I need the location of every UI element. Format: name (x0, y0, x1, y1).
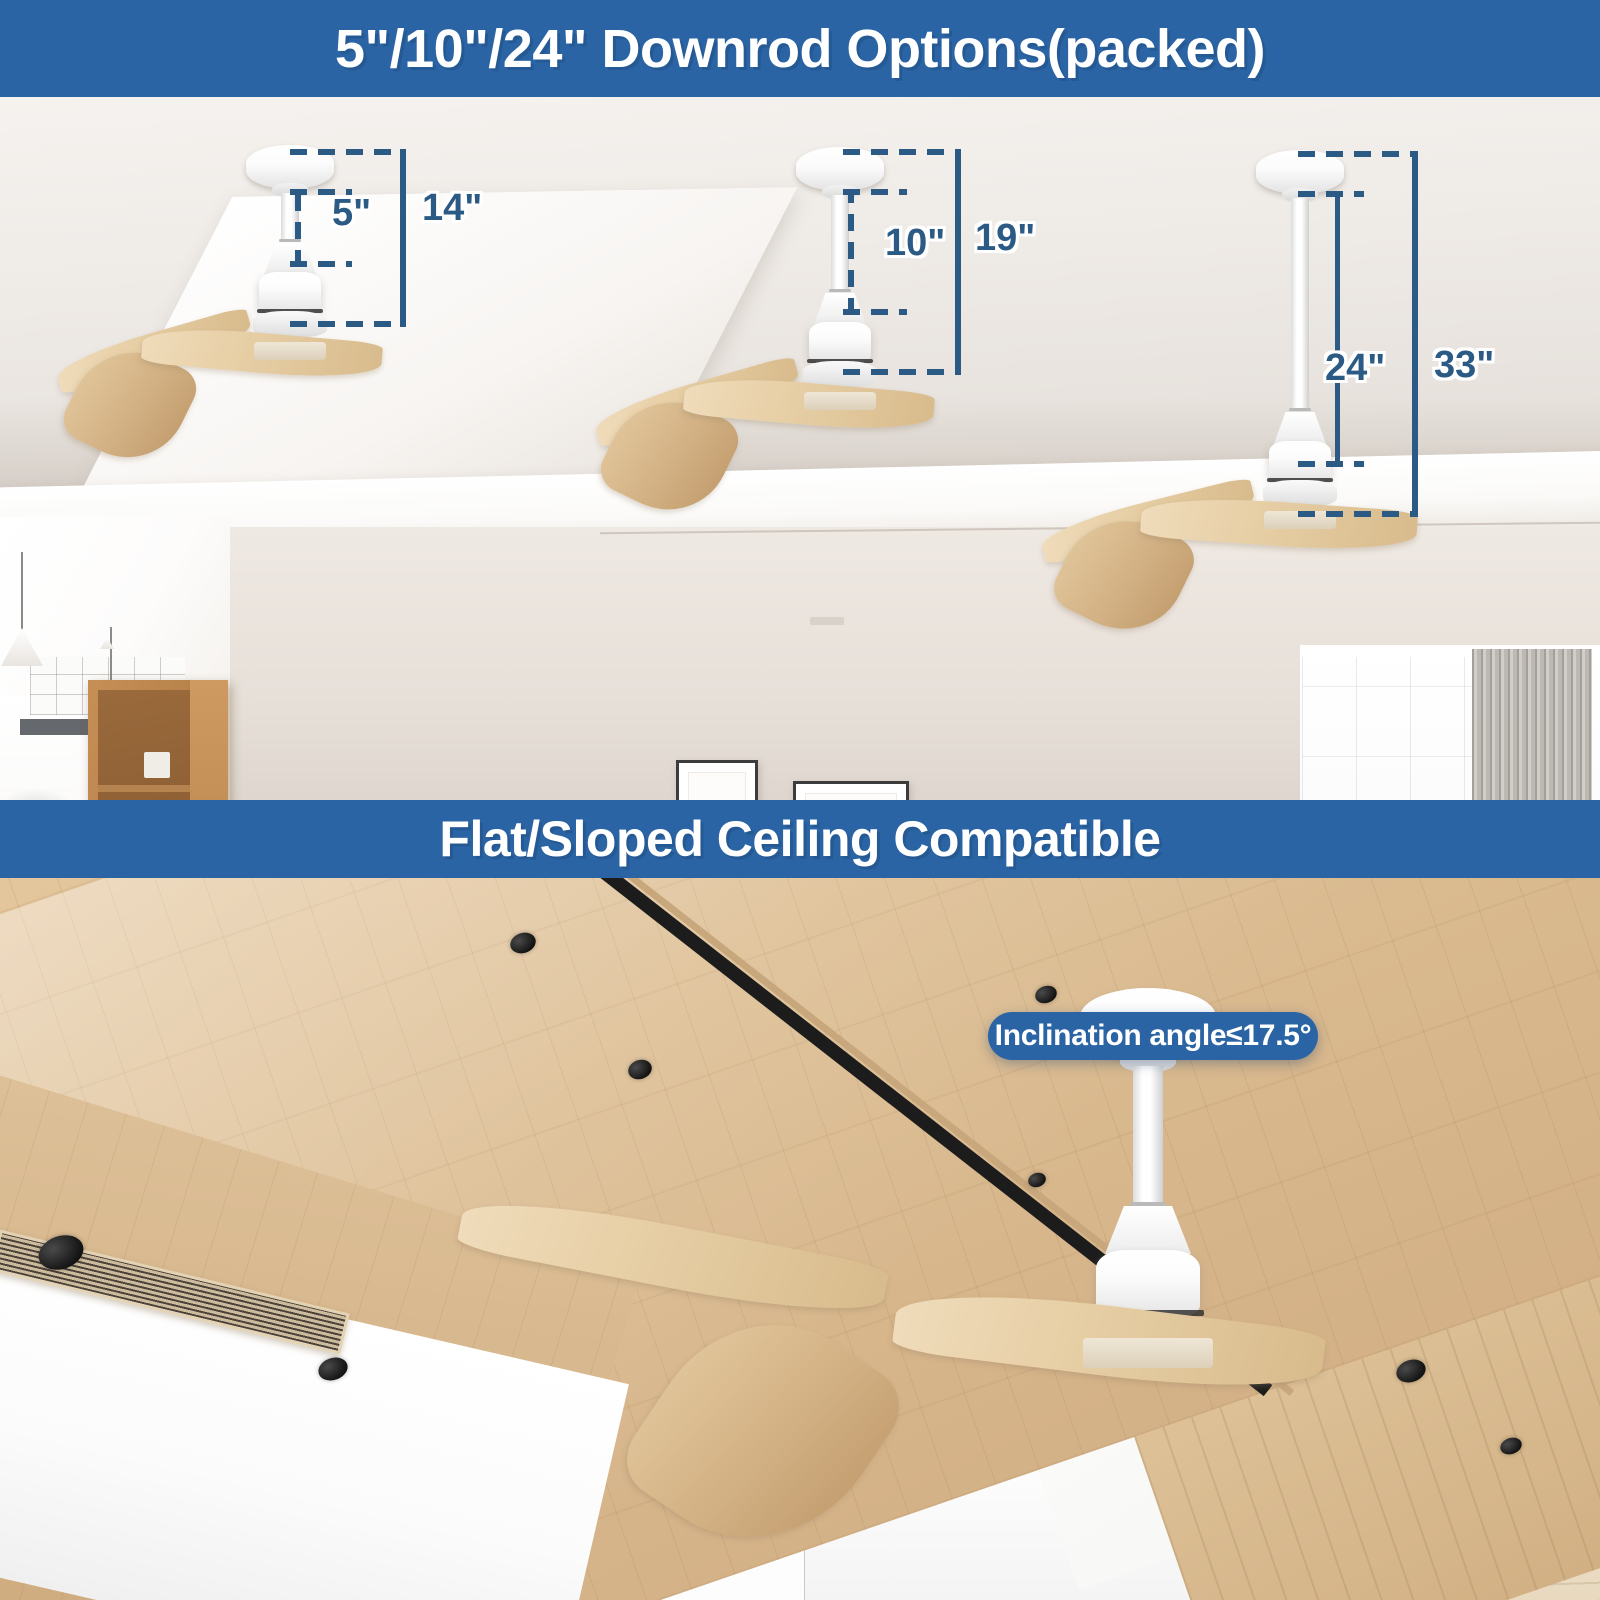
dim-24in-top-dash (1298, 151, 1416, 157)
inclination-angle-badge: Inclination angle≤17.5° (988, 1012, 1318, 1060)
middle-banner: Flat/Sloped Ceiling Compatible (0, 800, 1600, 878)
top-banner: 5"/10"/24" Downrod Options(packed) (0, 0, 1600, 97)
dim-19in-bottom-dash (843, 369, 961, 375)
dim-24in-inner-bottom-dash (1298, 461, 1364, 467)
sloped-ceiling-room-scene: Inclination angle≤17.5° (0, 878, 1600, 1600)
wooden-shelf-unit (88, 680, 228, 800)
ceiling-fan-5in (190, 137, 590, 427)
fan-motor-taper (1105, 1206, 1191, 1254)
pendant-shade (1, 628, 43, 666)
fan-motor-housing (259, 272, 321, 312)
middle-banner-title: Flat/Sloped Ceiling Compatible (439, 810, 1160, 868)
dim-label-10in: 10" (885, 222, 945, 265)
fan-motor-taper (1274, 412, 1326, 444)
dim-14in-vertical (400, 149, 406, 327)
fan-motor-taper (264, 243, 316, 275)
dim-24in-vertical (1335, 191, 1340, 465)
fan-rod-ring (1289, 408, 1311, 411)
fan-mounting-plate (804, 392, 876, 410)
dim-label-33in: 33" (1434, 344, 1494, 387)
window-curtain (1472, 649, 1592, 800)
dim-24in-inner-top-dash (1298, 191, 1364, 197)
dim-5in-vertical (295, 189, 301, 267)
dim-label-14in: 14" (422, 187, 482, 230)
ceiling-fan-24in (1205, 142, 1600, 572)
shelf-side-panel (190, 680, 228, 800)
dim-33in-vertical (1412, 151, 1418, 517)
pendant-shade-small (100, 637, 114, 649)
fan-downrod (1133, 1066, 1163, 1206)
dim-10in-top-dash (843, 149, 961, 155)
fan-motor-housing (809, 322, 871, 362)
fan-mounting-plate (1083, 1338, 1213, 1368)
dim-label-19in: 19" (975, 217, 1035, 260)
window-mullions (1302, 657, 1472, 800)
flat-ceiling-room-scene: 5" 14" 10" 19" (0, 97, 1600, 800)
product-infographic: 5"/10"/24" Downrod Options(packed) (0, 0, 1600, 1600)
inclination-angle-label: Inclination angle≤17.5° (995, 1019, 1312, 1053)
dim-33in-bottom-dash (1298, 511, 1416, 517)
shelf-interior (98, 690, 190, 800)
dim-label-5in: 5" (332, 192, 371, 235)
dim-19in-vertical (955, 149, 961, 375)
top-banner-title: 5"/10"/24" Downrod Options(packed) (335, 18, 1265, 80)
framed-art-3 (793, 781, 909, 800)
pendant-cord (21, 552, 23, 630)
fan-rod-ring (1130, 1202, 1166, 1206)
pendant-lamp-3 (100, 637, 114, 651)
dim-5in-inner-bottom-dash (290, 261, 352, 267)
fan-downrod (831, 195, 849, 291)
dim-5in-top-dash (290, 149, 406, 155)
dim-label-24in: 24" (1325, 347, 1385, 390)
shelf-jar (144, 752, 170, 778)
left-plant (0, 787, 90, 800)
ceiling-vent (810, 617, 844, 625)
frame-mat (688, 772, 746, 800)
dim-14in-bottom-dash (290, 321, 406, 327)
fan-downrod (1291, 198, 1309, 410)
frame-mat (805, 793, 897, 800)
pendant-lamp-1 (0, 552, 44, 672)
ceiling-fan-10in (740, 139, 1160, 469)
dim-10in-vertical (848, 189, 854, 315)
fan-mounting-plate (254, 342, 326, 360)
dim-10in-inner-bottom-dash (843, 309, 907, 315)
framed-art-2 (676, 760, 758, 800)
shelf-divider (98, 785, 190, 792)
